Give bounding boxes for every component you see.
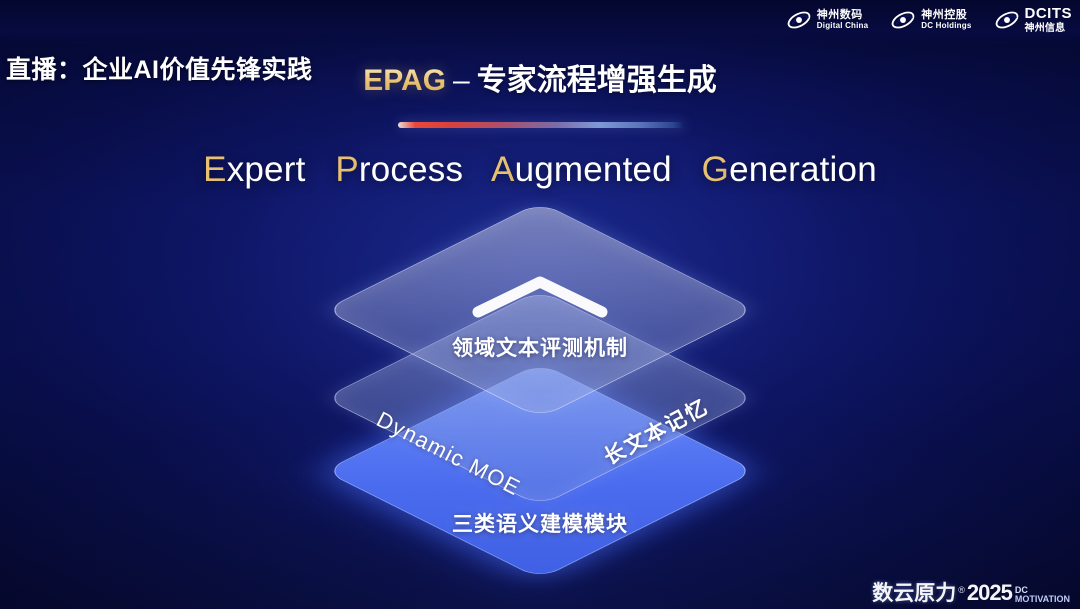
- watermark-year: 2025: [967, 582, 1012, 604]
- slide-subheadline: Expert Process Augmented Generation: [0, 150, 1080, 190]
- watermark-motivation: MOTIVATION: [1015, 595, 1070, 604]
- partner-logo-dcits: DCITS 神州信息: [994, 6, 1073, 34]
- subheadline-rest: rocess: [359, 150, 463, 189]
- presentation-slide: 数云原力 ® 2025 DC MOTIVATION 直播：企业AI价值先锋实践 …: [0, 0, 1080, 609]
- headline-acronym: EPAG: [363, 64, 446, 97]
- subheadline-cap: E: [203, 150, 227, 189]
- partner-name-cn: 神州数码: [817, 9, 869, 21]
- headline-dash: –: [446, 64, 477, 97]
- subheadline-word-augmented: Augmented: [491, 150, 672, 189]
- partner-name-en: 神州信息: [1025, 23, 1073, 34]
- live-stream-title: 直播：企业AI价值先锋实践: [6, 50, 313, 86]
- subheadline-rest: eneration: [729, 150, 877, 189]
- subheadline-word-generation: Generation: [702, 150, 877, 189]
- subheadline-word-process: Process: [335, 150, 463, 189]
- partner-name-en: Digital China: [817, 22, 869, 31]
- subheadline-cap: P: [335, 150, 359, 189]
- partner-logo-group: 神州数码 Digital China 神州控股 DC Holdings: [786, 6, 1072, 34]
- subheadline-word-expert: Expert: [203, 150, 305, 189]
- partner-name-en: DC Holdings: [921, 22, 971, 31]
- swirl-icon: [994, 7, 1020, 33]
- subheadline-cap: G: [702, 150, 729, 189]
- swirl-icon: [786, 7, 812, 33]
- partner-logo-dc-holdings: 神州控股 DC Holdings: [890, 7, 971, 33]
- watermark-registered-mark: ®: [958, 585, 965, 595]
- partner-logo-digital-china: 神州数码 Digital China: [786, 7, 869, 33]
- partner-name-cn: DCITS: [1025, 6, 1073, 23]
- headline-chinese: 专家流程增强生成: [477, 64, 717, 97]
- slide-watermark-logo: 数云原力 ® 2025 DC MOTIVATION: [872, 582, 1070, 604]
- swirl-icon: [890, 7, 916, 33]
- subheadline-rest: xpert: [227, 150, 306, 189]
- gradient-divider: [398, 122, 685, 128]
- subheadline-rest: ugmented: [515, 150, 672, 189]
- watermark-name-cn: 数云原力: [872, 583, 956, 604]
- subheadline-cap: A: [491, 150, 515, 189]
- partner-name-cn: 神州控股: [921, 9, 971, 21]
